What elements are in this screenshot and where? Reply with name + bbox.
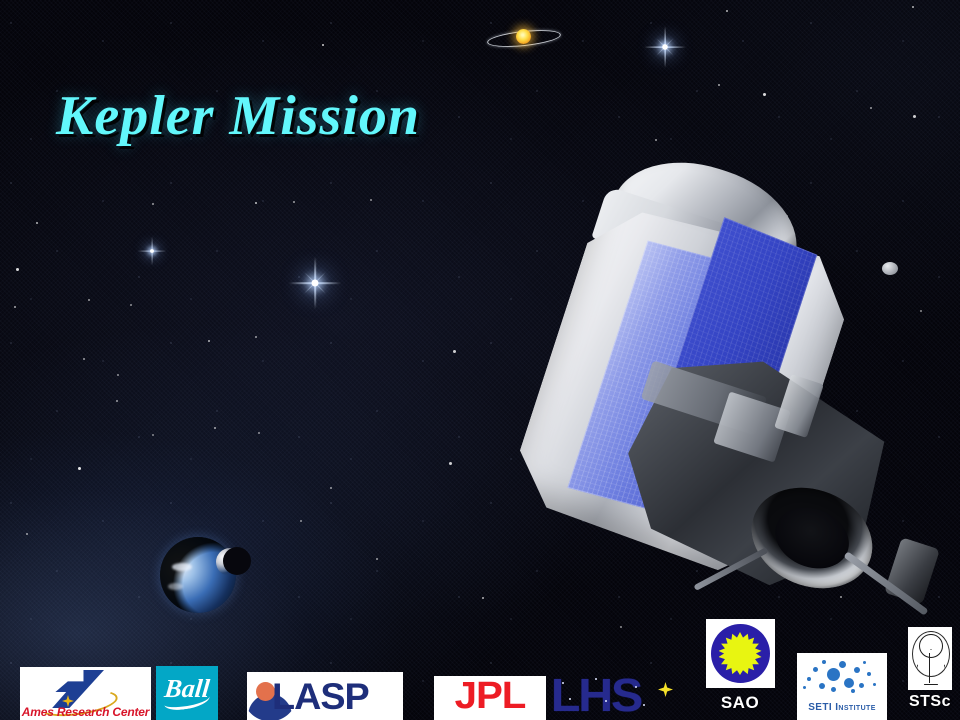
jpl-logo-text: JPL <box>434 676 546 718</box>
lhs-speck <box>562 682 564 684</box>
lasp-logo-box: LASP <box>247 672 403 720</box>
stsc-axis-icon <box>929 653 930 683</box>
lhs-speck <box>605 700 607 702</box>
partner-logo-strip: Ames Research Center Ball LASP JPL LHS <box>0 0 960 720</box>
lhs-star-icon <box>658 682 673 697</box>
logo-ball[interactable]: Ball <box>156 666 218 720</box>
logo-lasp[interactable]: LASP <box>247 672 403 720</box>
logo-sao[interactable]: SAO <box>703 619 777 720</box>
logo-jpl[interactable]: JPL <box>434 676 546 720</box>
lasp-logo-text: LASP <box>272 676 369 718</box>
lhs-speck <box>569 698 571 700</box>
ames-logo-text: Ames Research Center <box>20 705 151 719</box>
lhs-logo-text: LHS <box>551 668 641 720</box>
stsc-logo-box <box>908 627 952 690</box>
logo-seti-institute[interactable]: SETI Institute <box>797 653 887 720</box>
seti-dots-icon <box>797 659 887 695</box>
ames-logo-box: Ames Research Center <box>20 667 151 720</box>
lhs-speck <box>635 686 637 688</box>
seti-logo-text: SETI Institute <box>797 702 887 713</box>
ball-logo-box: Ball <box>156 666 218 720</box>
jpl-logo-box: JPL <box>434 676 546 720</box>
lhs-speck <box>643 704 645 706</box>
stsc-caption: STSc <box>902 693 958 711</box>
logo-stsc[interactable]: STSc <box>902 627 958 720</box>
sao-logo-box <box>706 619 775 688</box>
logo-lhs[interactable]: LHS <box>553 668 671 720</box>
logo-ames-research-center[interactable]: Ames Research Center <box>20 667 151 720</box>
lhs-speck <box>595 678 597 680</box>
seti-logo-box: SETI Institute <box>797 653 887 720</box>
kepler-mission-slide: Kepler Mission Ames Research Center <box>0 0 960 720</box>
sao-caption: SAO <box>703 693 777 713</box>
